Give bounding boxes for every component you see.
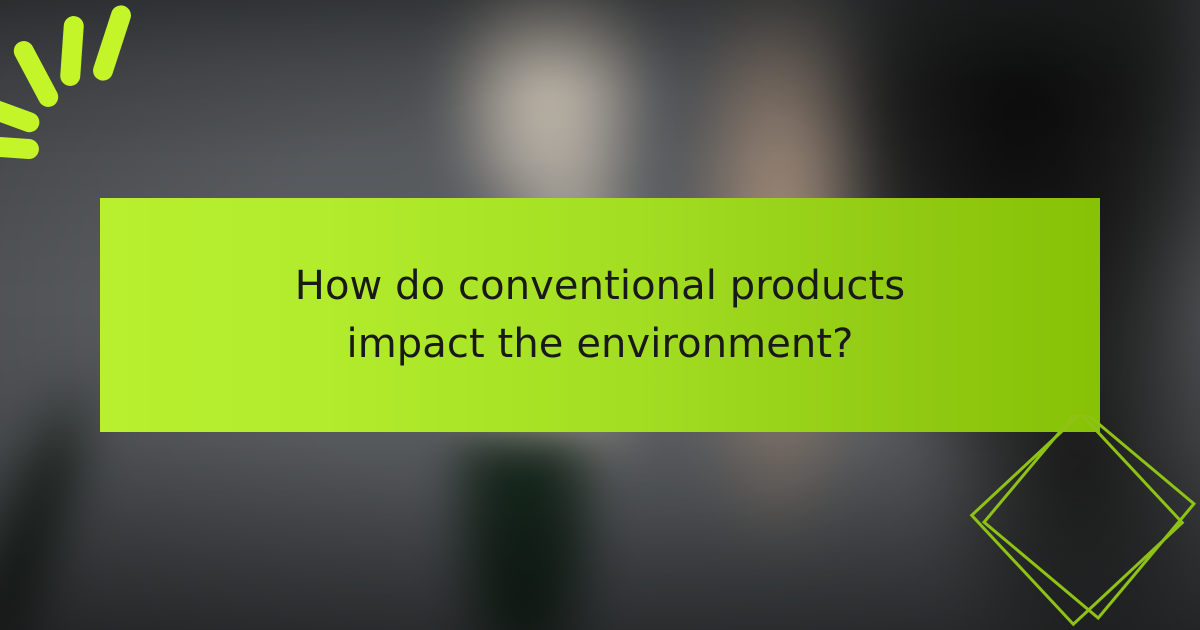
rotated-squares-icon bbox=[965, 415, 1200, 630]
sparkle-burst-icon bbox=[0, 0, 200, 180]
sparkle-ray-5 bbox=[0, 134, 40, 159]
social-card: How do conventional products impact the … bbox=[0, 0, 1200, 630]
rotated-square-front bbox=[982, 415, 1196, 620]
page-title: How do conventional products impact the … bbox=[240, 257, 960, 373]
sparkle-ray-3 bbox=[10, 38, 61, 111]
sparkle-ray-4 bbox=[0, 91, 42, 135]
sparkle-ray-1 bbox=[90, 3, 133, 83]
sparkle-ray-2 bbox=[60, 15, 85, 86]
headline-banner: How do conventional products impact the … bbox=[100, 198, 1100, 432]
